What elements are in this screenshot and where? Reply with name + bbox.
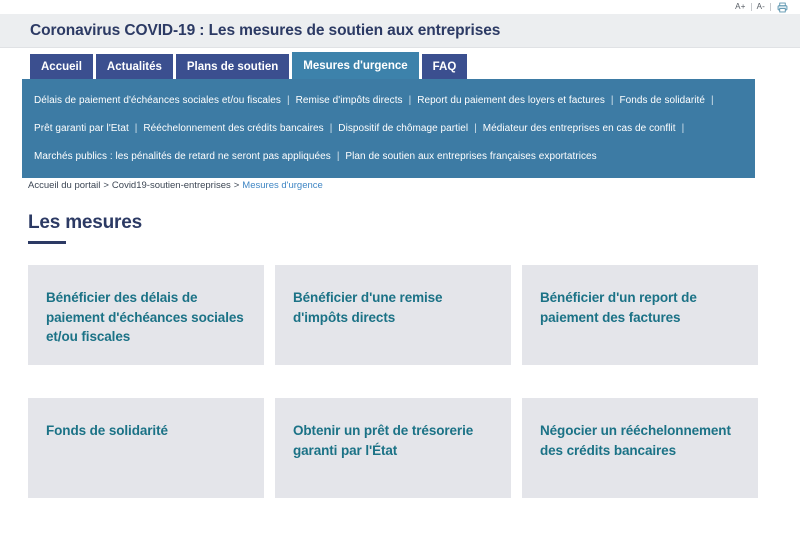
measure-card-title: Obtenir un prêt de trésorerie garanti pa… [293, 421, 493, 460]
section-title: Les mesures [28, 213, 142, 234]
nav-link[interactable]: Médiateur des entreprises en cas de conf… [483, 123, 676, 134]
breadcrumb: Accueil du portail>Covid19-soutien-entre… [28, 180, 323, 191]
increase-font-size-button[interactable]: A+ [730, 3, 750, 11]
measure-card-title: Bénéficier d'une remise d'impôts directs [293, 288, 493, 327]
tab-accueil[interactable]: Accueil [30, 54, 93, 79]
nav-separator: | [324, 123, 339, 134]
measure-card[interactable]: Obtenir un prêt de trésorerie garanti pa… [275, 398, 511, 498]
tab-mesures-d-urgence[interactable]: Mesures d'urgence [292, 52, 418, 79]
navigation-block: AccueilActualitésPlans de soutienMesures… [22, 52, 755, 178]
breadcrumb-separator: > [100, 180, 112, 191]
measure-card-title: Bénéficier des délais de paiement d'éché… [46, 288, 246, 347]
nav-link[interactable]: Dispositif de chômage partiel [338, 123, 468, 134]
measure-card-title: Bénéficier d'un report de paiement des f… [540, 288, 740, 327]
nav-link[interactable]: Délais de paiement d'échéances sociales … [34, 95, 281, 106]
nav-link[interactable]: Remise d'impôts directs [296, 95, 403, 106]
utility-divider [770, 3, 771, 11]
nav-separator: | [676, 123, 691, 134]
measure-card-title: Négocier un rééchelonnement des crédits … [540, 421, 740, 460]
measures-card-grid: Bénéficier des délais de paiement d'éché… [28, 265, 772, 498]
nav-link[interactable]: Rééchelonnement des crédits bancaires [143, 123, 323, 134]
breadcrumb-separator: > [231, 180, 243, 191]
nav-link[interactable]: Report du paiement des loyers et facture… [417, 95, 605, 106]
page-title: Coronavirus COVID-19 : Les mesures de so… [30, 22, 500, 40]
section-title-block: Les mesures [28, 213, 142, 244]
nav-separator: | [403, 95, 418, 106]
title-underline [28, 241, 66, 244]
tab-actualit-s[interactable]: Actualités [96, 54, 173, 79]
tab-faq[interactable]: FAQ [422, 54, 468, 79]
breadcrumb-item[interactable]: Covid19-soutien-entreprises [112, 180, 231, 191]
nav-separator: | [129, 123, 144, 134]
page-header: Coronavirus COVID-19 : Les mesures de so… [0, 14, 800, 48]
nav-row: Marchés publics : les pénalités de retar… [34, 142, 743, 170]
measure-card[interactable]: Négocier un rééchelonnement des crédits … [522, 398, 758, 498]
nav-link[interactable]: Plan de soutien aux entreprises français… [345, 151, 596, 162]
tab-plans-de-soutien[interactable]: Plans de soutien [176, 54, 289, 79]
nav-link[interactable]: Fonds de solidarité [620, 95, 705, 106]
printer-icon[interactable] [777, 2, 788, 13]
breadcrumb-item[interactable]: Mesures d'urgence [242, 180, 323, 191]
breadcrumb-item[interactable]: Accueil du portail [28, 180, 100, 191]
page-root: A+ A- Coronavirus COVID-19 : Les mesures… [0, 0, 800, 533]
nav-row: Prêt garanti par l'Etat|Rééchelonnement … [34, 114, 743, 142]
nav-link[interactable]: Marchés publics : les pénalités de retar… [34, 151, 331, 162]
nav-separator: | [281, 95, 296, 106]
nav-separator: | [705, 95, 720, 106]
tab-bar: AccueilActualitésPlans de soutienMesures… [22, 52, 755, 79]
measure-card[interactable]: Bénéficier d'un report de paiement des f… [522, 265, 758, 365]
sub-navigation-links: Délais de paiement d'échéances sociales … [22, 79, 755, 178]
utility-bar: A+ A- [0, 0, 800, 14]
nav-separator: | [605, 95, 620, 106]
measure-card[interactable]: Bénéficier d'une remise d'impôts directs [275, 265, 511, 365]
measure-card[interactable]: Bénéficier des délais de paiement d'éché… [28, 265, 264, 365]
measure-card-title: Fonds de solidarité [46, 421, 168, 441]
nav-row: Délais de paiement d'échéances sociales … [34, 86, 743, 114]
nav-separator: | [331, 151, 346, 162]
nav-separator: | [468, 123, 483, 134]
nav-link[interactable]: Prêt garanti par l'Etat [34, 123, 129, 134]
decrease-font-size-button[interactable]: A- [752, 3, 770, 11]
measure-card[interactable]: Fonds de solidarité [28, 398, 264, 498]
